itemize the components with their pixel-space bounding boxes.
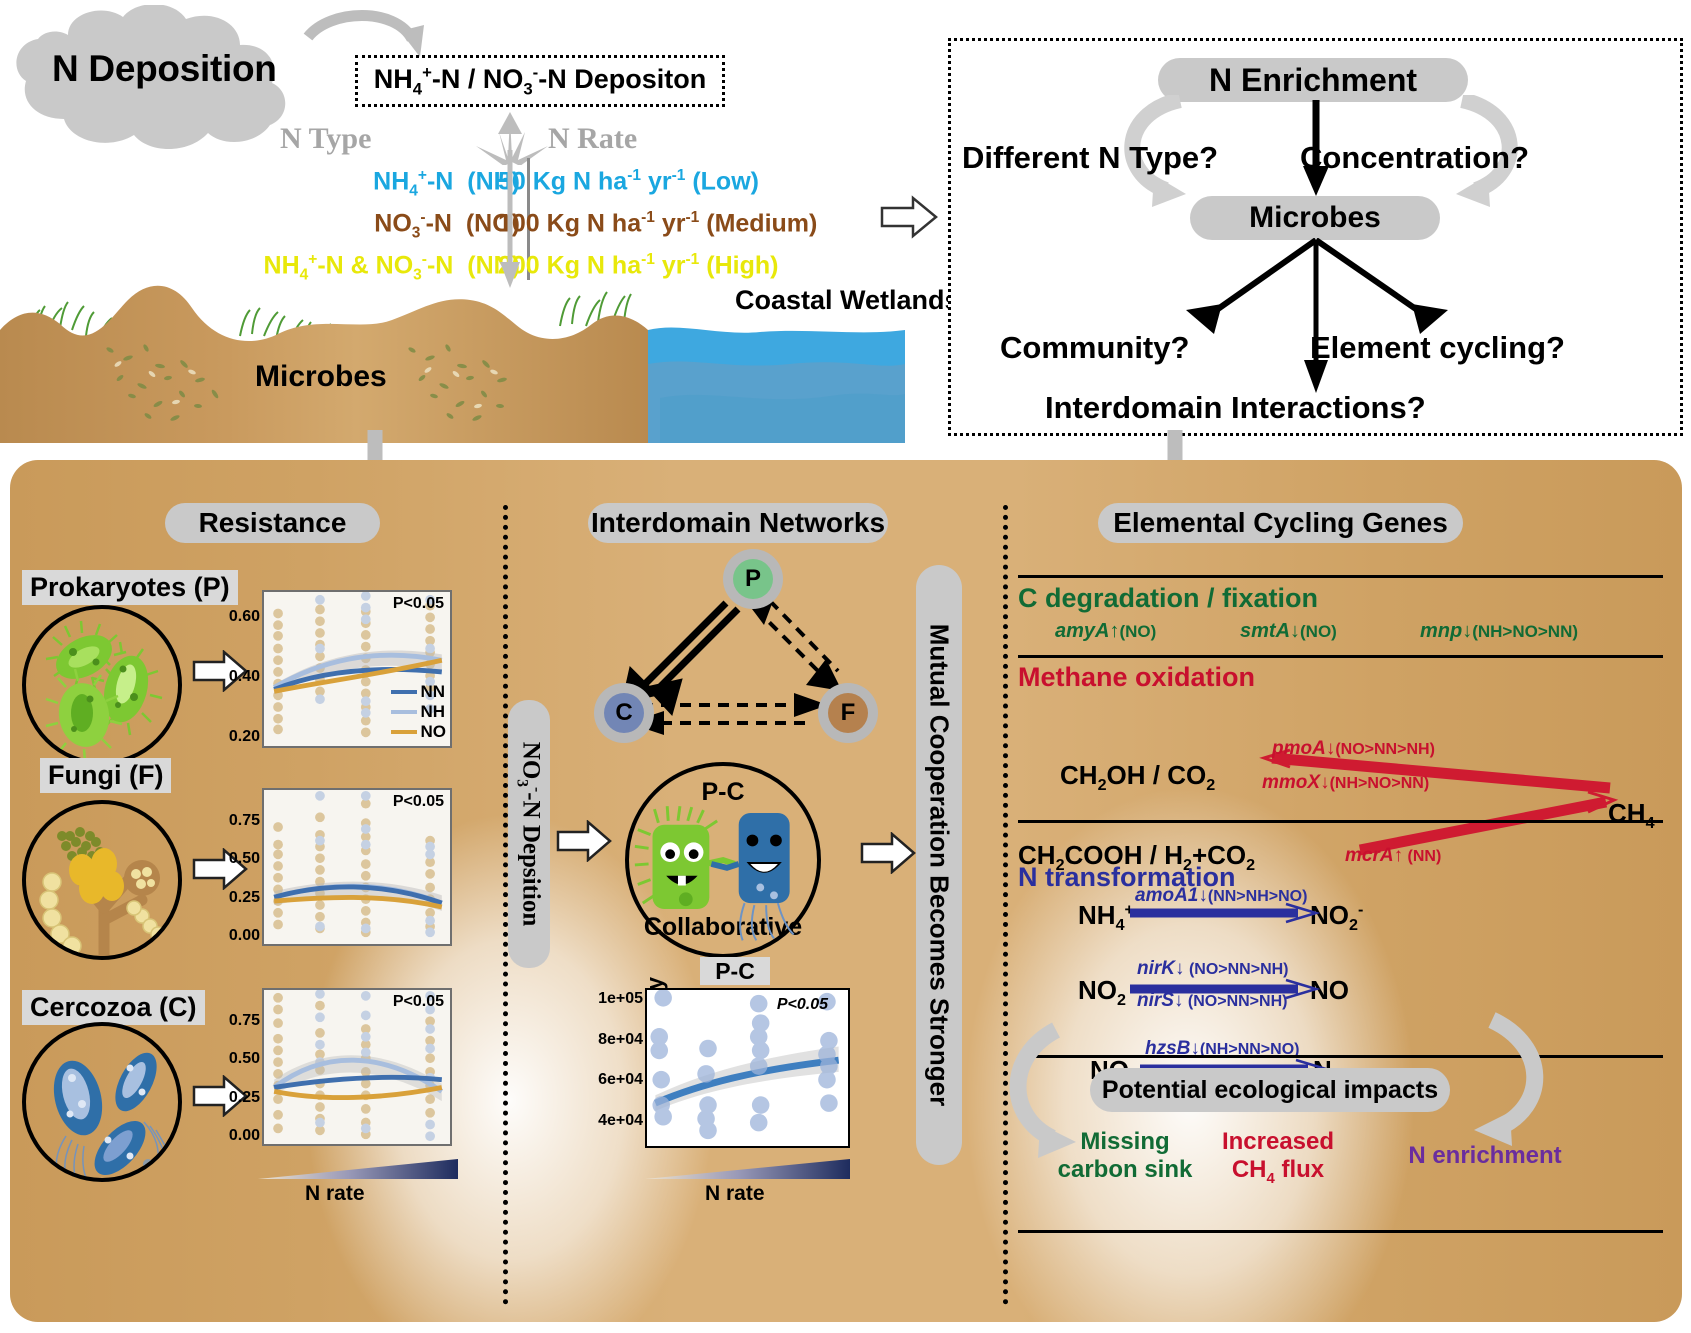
plot-fungi-resistance: P<0.05 0.75 0.50 0.25 0.00 — [262, 788, 452, 946]
n-rate-item: 100 Kg N ha-1 yr-1 (Medium) — [498, 197, 918, 239]
question-community: Community? — [1000, 330, 1189, 366]
prokaryotes-illustration — [22, 605, 182, 765]
plot-canvas — [264, 790, 450, 944]
y-tick: 0.50 — [229, 850, 260, 868]
y-tick: 0.40 — [229, 668, 260, 686]
gene-mnp: mnp↓(NH>NO>NN) — [1420, 620, 1578, 643]
impact-increased-ch4-flux: Increased CH4 flux — [1198, 1128, 1358, 1187]
n-rate-header: N Rate — [548, 122, 637, 156]
network-node-c: C — [594, 683, 654, 743]
vertical-label-text: NO3--N Depsition — [512, 742, 545, 926]
deposition-box: NH4+-N / NO3--N Depositon — [355, 55, 725, 107]
divider-line — [1018, 655, 1663, 658]
gene-amoA1: amoA1↓(NN>NH>NO) — [1135, 885, 1307, 907]
plot-pvalue: P<0.05 — [393, 793, 444, 811]
x-axis-label-left: N rate — [305, 1182, 365, 1206]
plot-pvalue: P<0.05 — [777, 996, 828, 1014]
plot-pc-stability: P<0.05 1e+05 8e+04 6e+04 4e+04 — [645, 988, 850, 1148]
section-title-resistance: Resistance — [165, 503, 380, 543]
y-tick: 0.20 — [229, 728, 260, 746]
y-tick: 0.00 — [229, 1127, 260, 1145]
y-tick: 0.75 — [229, 812, 260, 830]
x-axis-label-mid: N rate — [705, 1182, 765, 1206]
open-arrow-to-concept — [880, 195, 940, 239]
divider-line — [1018, 820, 1663, 823]
plot-prokaryotes-resistance: P<0.05 0.60 0.40 0.20 — [262, 590, 452, 748]
open-arrow-no3-to-pc — [556, 820, 614, 862]
n-type-item: NO3--N (NO) — [0, 197, 520, 239]
y-tick: 4e+04 — [598, 1112, 643, 1130]
impact-n-enrichment: N enrichment — [1375, 1142, 1595, 1170]
gene-mmoX: mmoX↓(NH>NO>NN) — [1262, 772, 1429, 794]
legend-item: NN — [391, 682, 447, 702]
microbes-label: Microbes — [255, 360, 387, 394]
plot-pvalue: P<0.05 — [393, 993, 444, 1011]
cloud-label: N Deposition — [52, 48, 277, 90]
interdomain-network-diagram: P C F — [580, 555, 880, 755]
cercozoa-illustration — [22, 1022, 182, 1182]
plot-canvas — [264, 990, 450, 1144]
plot-cercozoa-resistance: P<0.05 0.75 0.50 0.25 0.00 — [262, 988, 452, 1146]
vertical-label-text: Mutual Cooperation Becomes Stronger — [924, 624, 955, 1107]
n-type-header: N Type — [280, 122, 371, 156]
fungi-illustration — [22, 800, 182, 960]
question-concentration: Concentration? — [1300, 140, 1529, 176]
coastal-wetlands-label: Coastal Wetlands — [735, 285, 960, 316]
y-tick: 0.25 — [229, 1089, 260, 1107]
n-species-no2: NO2 — [1078, 975, 1126, 1010]
panel-divider-2 — [1003, 505, 1008, 1305]
question-interdomain-interactions: Interdomain Interactions? — [1045, 390, 1426, 426]
microbes-branch-arrows — [1090, 238, 1550, 408]
gene-amyA: amyA↑(NO) — [1055, 620, 1156, 643]
taxon-plate-fungi: Fungi (F) — [40, 758, 171, 793]
pc-collaborative-illustration: P-C Collaborative — [625, 762, 821, 958]
question-different-n-type: Different N Type? — [962, 140, 1218, 176]
plot-pvalue: P<0.05 — [393, 595, 444, 613]
gene-nirS: nirS↓ (NO>NN>NH) — [1137, 990, 1287, 1012]
y-tick: 1e+05 — [598, 990, 643, 1008]
gene-smtA: smtA↓(NO) — [1240, 620, 1337, 643]
divider-line — [1018, 575, 1663, 578]
section-title-genes: Elemental Cycling Genes — [1098, 503, 1463, 543]
taxon-plate-cercozoa: Cercozoa (C) — [22, 990, 205, 1025]
y-tick: 0.00 — [229, 927, 260, 945]
n-rate-list: 50 Kg N ha-1 yr-1 (Low) 100 Kg N ha-1 yr… — [498, 155, 918, 281]
section-title-networks: Interdomain Networks — [588, 503, 888, 543]
y-tick: 8e+04 — [598, 1031, 643, 1049]
down-arrow-to-landscape — [495, 150, 525, 290]
legend-item: NO — [391, 722, 447, 742]
network-node-p: P — [723, 549, 783, 609]
n-type-list: NH4+-N (NH) NO3--N (NO) NH4+-N & NO3--N … — [0, 155, 520, 281]
gene-mcrA: mcrA↑ (NN) — [1345, 845, 1441, 867]
methane-left-top: CH2OH / CO2 — [1060, 760, 1215, 795]
deposition-text: NH4+-N / NO3--N Depositon — [374, 63, 706, 99]
n-type-item: NH4+-N (NH) — [0, 155, 520, 197]
impact-missing-carbon-sink: Missing carbon sink — [1050, 1128, 1200, 1183]
plot-legend: NN NH NO — [391, 682, 447, 742]
header-methane-oxidation: Methane oxidation — [1018, 662, 1255, 693]
y-tick: 0.25 — [229, 889, 260, 907]
n-rate-item: 200 Kg N ha-1 yr-1 (High) — [498, 239, 918, 281]
legend-item: NH — [391, 702, 447, 722]
gene-nirK: nirK↓ (NO>NN>NH) — [1137, 958, 1289, 980]
y-tick: 0.50 — [229, 1050, 260, 1068]
question-element-cycling: Element cycling? — [1310, 330, 1565, 366]
n-rate-gradient-bar-left — [258, 1158, 458, 1180]
vertical-label-no3-deposition: NO3--N Depsition — [508, 700, 550, 968]
pill-potential-impacts: Potential ecological impacts — [1090, 1068, 1450, 1112]
divider-line — [1018, 1230, 1663, 1233]
taxon-plate-prokaryotes: Prokaryotes (P) — [22, 570, 238, 605]
gene-pmoA: pmoA↓(NO>NN>NH) — [1272, 738, 1435, 760]
y-tick: 0.60 — [229, 608, 260, 626]
vertical-label-mutual-cooperation: Mutual Cooperation Becomes Stronger — [916, 565, 962, 1165]
n-species-nh4: NH4+ — [1078, 900, 1134, 935]
n-type-item: NH4+-N & NO3--N (NN) — [0, 239, 520, 281]
n-rate-item: 50 Kg N ha-1 yr-1 (Low) — [498, 155, 918, 197]
n-rate-gradient-bar-mid — [645, 1158, 850, 1180]
header-c-degradation: C degradation / fixation — [1018, 583, 1318, 614]
grey-loop-arrow-right — [1430, 1010, 1560, 1150]
open-arrow-mid-to-right — [860, 832, 918, 874]
pc-plot-title: P-C — [700, 957, 770, 985]
network-node-f: F — [818, 683, 878, 743]
y-tick: 6e+04 — [598, 1071, 643, 1089]
y-tick: 0.75 — [229, 1012, 260, 1030]
